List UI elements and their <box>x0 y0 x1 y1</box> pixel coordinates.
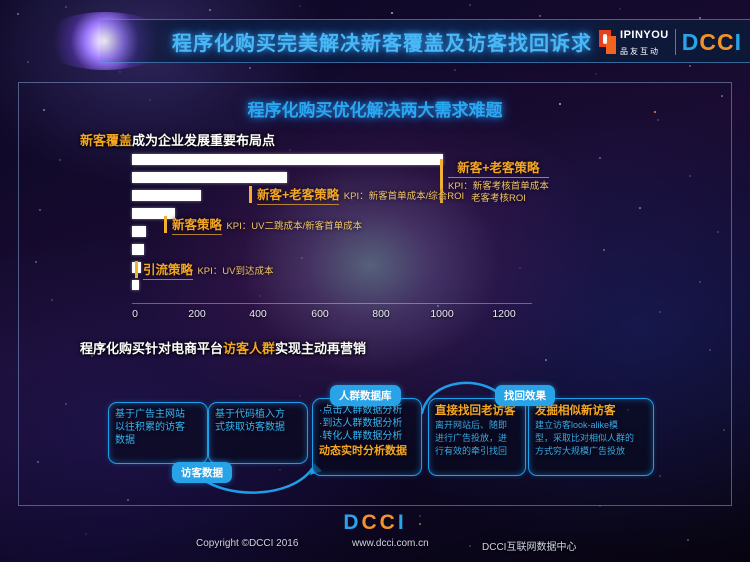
ipinyou-logo-icon <box>599 30 616 54</box>
footer-dcci-letter-i: I <box>398 511 407 534</box>
annotation-2-title: 新客策略 <box>172 214 222 235</box>
slide-header: 程序化购买完美解决新客覆盖及访客找回诉求 IPINYOU 品友互动 DCCI <box>0 0 750 78</box>
bar-6 <box>132 244 144 255</box>
bar-3 <box>132 190 201 201</box>
heading-new-customer-coverage: 新客覆盖成为企业发展重要布局点 <box>80 130 275 149</box>
chart-x-axis <box>132 303 532 304</box>
heading-2-accent: 访客人群 <box>223 341 275 356</box>
annotation-new-customer-strategy: 新客策略 KPI：UV二跳成本/新客首单成本 <box>164 214 362 235</box>
slide-background: 程序化购买完美解决新客覆盖及访客找回诉求 IPINYOU 品友互动 DCCI 程… <box>0 0 750 562</box>
flow-box-audience-database[interactable]: ·点击人群数据分析 ·到达人群数据分析 ·转化人群数据分析 动态实时分析数据 <box>312 398 422 476</box>
slide-footer: DCCI Copyright ©DCCI 2016 www.dcci.com.c… <box>0 506 750 562</box>
flow-box-1-line-0: 基于代码植入方 <box>215 408 302 421</box>
dcci-letters-cc: CC <box>699 29 734 55</box>
x-tick-1000: 1000 <box>430 308 453 320</box>
bar-8 <box>132 280 139 290</box>
x-tick-800: 800 <box>372 308 390 320</box>
flow-box-4-line-3: 方式穷大规模广告投放 <box>535 445 648 458</box>
annotation-3-kpi: KPI：UV到达成本 <box>197 266 273 277</box>
flow-box-3-line-2: 进行广告投放，进 <box>435 432 520 445</box>
flow-box-lookalike-discovery[interactable]: 发掘相似新访客 建立访客look-alike模 型，采取比对相似人群的 方式穷大… <box>528 398 654 476</box>
x-tick-400: 400 <box>249 308 267 320</box>
x-tick-200: 200 <box>188 308 206 320</box>
flow-box-direct-retrieval[interactable]: 直接找回老访客 离开网站后、随即 进行广告投放，进 行有效的牵引找回 <box>428 398 526 476</box>
x-tick-0: 0 <box>132 308 138 320</box>
heading-1-rest: 成为企业发展重要布局点 <box>132 133 275 148</box>
flow-box-3-line-1: 离开网站后、随即 <box>435 419 520 432</box>
ipinyou-name-en: IPINYOU <box>620 29 669 41</box>
heading-retargeting: 程序化购买针对电商平台访客人群实现主动再营销 <box>80 338 366 357</box>
dcci-letter-i: I <box>735 29 742 55</box>
flow-box-0-line-0: 基于广告主网站 <box>115 408 202 421</box>
bar-2 <box>132 172 287 183</box>
flow-tag-retrieval-effect[interactable]: 找回效果 <box>495 385 555 406</box>
section-title: 程序化购买优化解决两大需求难题 <box>0 96 750 121</box>
footer-dcci-letters-cc: CC <box>361 511 397 534</box>
flow-tag-audience-database[interactable]: 人群数据库 <box>330 385 401 406</box>
x-tick-1200: 1200 <box>492 308 515 320</box>
annotation-new-and-old-strategy: 新客+老客策略 KPI：新客首单成本/综合ROI <box>249 184 464 205</box>
logo-divider <box>675 29 676 55</box>
flow-tag-visitor-data[interactable]: 访客数据 <box>172 462 232 483</box>
annotation-3-title: 引流策略 <box>143 259 193 280</box>
flow-box-2-line-2: ·转化人群数据分析 <box>319 430 416 443</box>
flow-box-4-line-0: 发掘相似新访客 <box>535 404 648 419</box>
annotation-traffic-strategy: 引流策略 KPI：UV到达成本 <box>135 259 273 280</box>
flow-box-4-line-1: 建立访客look-alike模 <box>535 419 648 432</box>
heading-1-accent: 新客覆盖 <box>80 133 132 148</box>
dcci-logo-footer: DCCI <box>0 512 750 533</box>
header-logos: IPINYOU 品友互动 DCCI <box>599 26 742 58</box>
annotation-2-kpi: KPI：UV二跳成本/新客首单成本 <box>226 221 362 232</box>
header-title: 程序化购买完美解决新客覆盖及访客找回诉求 <box>172 27 592 56</box>
flow-box-4-line-2: 型，采取比对相似人群的 <box>535 432 648 445</box>
flow-box-0-line-2: 数据 <box>115 434 202 447</box>
footer-copyright: Copyright ©DCCI 2016 <box>196 538 298 549</box>
dcci-letter-d: D <box>682 29 700 55</box>
dcci-logo-header: DCCI <box>682 31 742 54</box>
heading-2-post: 实现主动再营销 <box>275 341 366 356</box>
annotation-1-kpi: KPI：新客首单成本/综合ROI <box>344 191 464 202</box>
flow-box-code-embed-data[interactable]: 基于代码植入方 式获取访客数据 <box>208 402 308 464</box>
footer-organization: DCCI互联网数据中心 <box>482 538 576 553</box>
footer-website[interactable]: www.dcci.com.cn <box>352 538 429 549</box>
heading-2-pre: 程序化购买针对电商平台 <box>80 341 223 356</box>
bar-5 <box>132 226 146 237</box>
flow-box-advertiser-data[interactable]: 基于广告主网站 以往积累的访客 数据 <box>108 402 208 464</box>
ipinyou-logo: IPINYOU 品友互动 <box>599 26 669 58</box>
annotation-0-title: 新客+老客策略 <box>448 157 549 178</box>
annotation-1-title: 新客+老客策略 <box>257 184 339 205</box>
flow-box-2-line-3: 动态实时分析数据 <box>319 444 416 459</box>
flow-box-2-line-1: ·到达人群数据分析 <box>319 417 416 430</box>
ipinyou-name-cn: 品友互动 <box>620 47 660 56</box>
flow-box-1-line-1: 式获取访客数据 <box>215 421 302 434</box>
ipinyou-logo-text: IPINYOU 品友互动 <box>620 26 669 58</box>
x-tick-600: 600 <box>311 308 329 320</box>
bar-1 <box>132 154 443 165</box>
flow-box-0-line-1: 以往积累的访客 <box>115 421 202 434</box>
flow-box-3-line-3: 行有效的牵引找回 <box>435 445 520 458</box>
flow-box-3-line-0: 直接找回老访客 <box>435 404 520 419</box>
footer-dcci-letter-d: D <box>343 511 361 534</box>
